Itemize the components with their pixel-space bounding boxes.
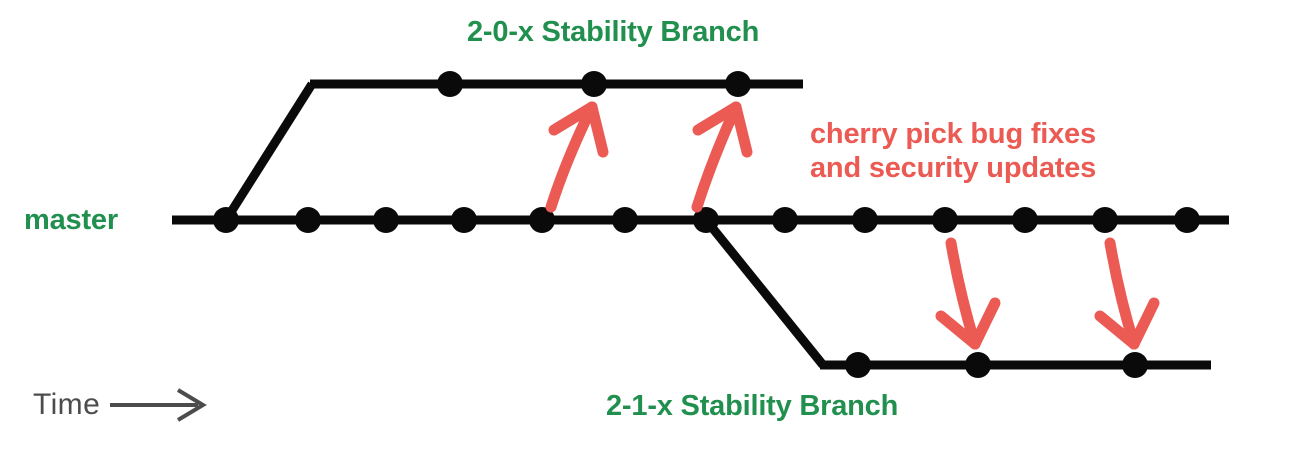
cherry-pick-down-arrow-icon [941, 243, 995, 344]
commit-dot[interactable] [845, 352, 871, 378]
branch-20x-label: 2-0-x Stability Branch [467, 15, 759, 49]
commit-dot[interactable] [1012, 207, 1038, 233]
commit-dot[interactable] [932, 207, 958, 233]
commit-dot[interactable] [373, 207, 399, 233]
commit-dot[interactable] [852, 207, 878, 233]
time-axis-arrow-icon [110, 390, 203, 420]
cherry-pick-down-arrow-icon [1100, 243, 1154, 344]
branch-20x-fork-line [226, 84, 312, 220]
cherry-pick-annotation-line2: and security updates [810, 151, 1096, 185]
commit-dot[interactable] [1174, 207, 1200, 233]
branch-21x-label: 2-1-x Stability Branch [606, 389, 898, 423]
cherry-pick-annotation: cherry pick bug fixesand security update… [810, 117, 1096, 185]
branch-21x-fork-line [706, 220, 823, 365]
commit-dot[interactable] [1092, 207, 1118, 233]
commit-dot[interactable] [1122, 352, 1148, 378]
cherry-pick-up-arrow-icon [551, 107, 603, 207]
commit-dot[interactable] [451, 207, 477, 233]
diagram-canvas [0, 0, 1310, 456]
cherry-pick-up-arrow-icon [697, 107, 747, 207]
commit-dot[interactable] [581, 71, 607, 97]
commit-dot[interactable] [772, 207, 798, 233]
commit-dot[interactable] [437, 71, 463, 97]
commit-dot[interactable] [213, 207, 239, 233]
commit-dot[interactable] [612, 207, 638, 233]
commit-dot[interactable] [295, 207, 321, 233]
time-axis-label: Time [33, 387, 100, 422]
commit-dot[interactable] [725, 71, 751, 97]
cherry-pick-annotation-line1: cherry pick bug fixes [810, 118, 1096, 150]
git-branching-diagram: 2-0-x Stability Branch 2-1-x Stability B… [0, 0, 1310, 456]
master-branch-label: master [24, 203, 118, 237]
commit-dot[interactable] [965, 352, 991, 378]
